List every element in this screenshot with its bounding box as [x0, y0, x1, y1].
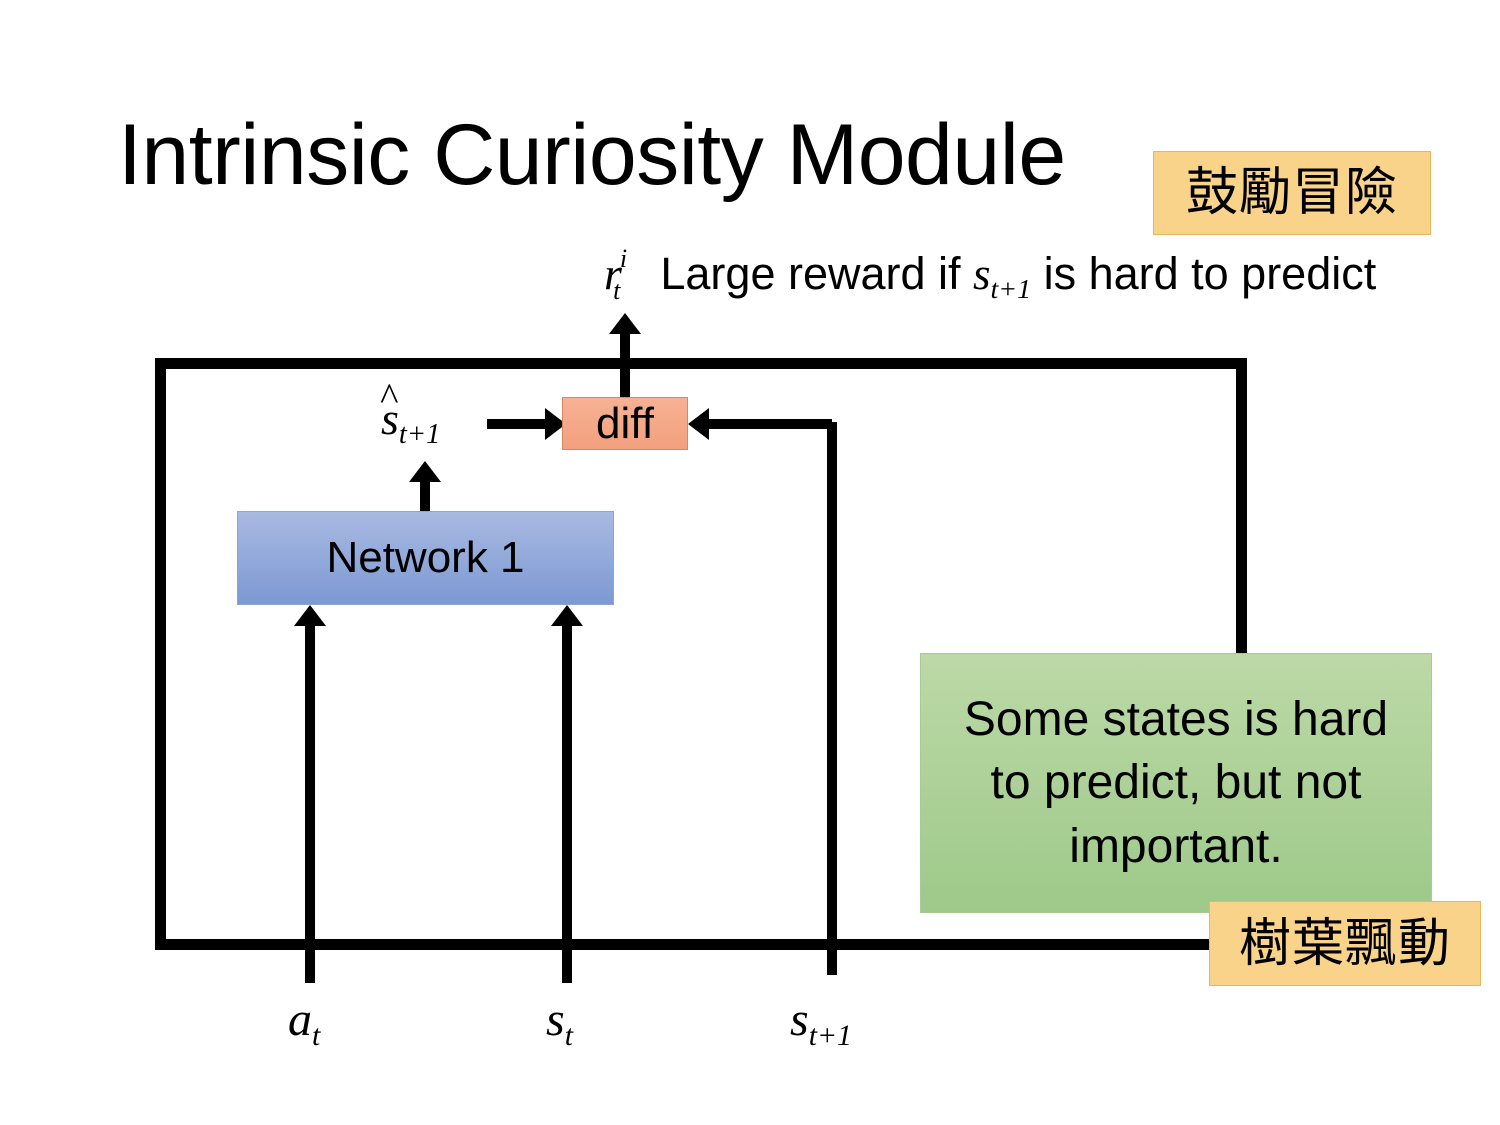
next-state-label-base: s — [790, 993, 809, 1046]
reward-symbol-subscript: t — [613, 276, 620, 305]
predicted-state-label: ^st+1 — [381, 396, 440, 442]
reward-output-arrow — [620, 332, 630, 400]
state-input-arrow — [562, 624, 572, 940]
network-1-block[interactable]: Network 1 — [237, 511, 614, 605]
diff-block[interactable]: diff — [562, 397, 688, 450]
note-block: Some states is hard to predict, but not … — [920, 653, 1432, 913]
next-state-label: st+1 — [790, 996, 852, 1044]
reward-caption-math-sub: t+1 — [991, 274, 1032, 305]
frame-left-rail — [155, 358, 166, 950]
action-feed-line — [305, 939, 315, 983]
badge-encourage-adventure-label: 鼓勵冒險 — [1186, 167, 1398, 219]
predicted-state-sub: t+1 — [399, 419, 440, 450]
next-state-label-sub: t+1 — [809, 1019, 852, 1052]
reward-caption-row: rit Large reward if st+1 is hard to pred… — [604, 247, 1376, 311]
reward-symbol-superscript: i — [620, 244, 627, 273]
page-title: Intrinsic Curiosity Module — [118, 112, 1066, 198]
diff-block-label: diff — [596, 402, 654, 446]
reward-symbol: rit — [604, 247, 636, 300]
note-block-text: Some states is hard to predict, but not … — [949, 688, 1403, 878]
reward-caption-after: is hard to predict — [1031, 248, 1376, 299]
network-1-label: Network 1 — [326, 536, 524, 580]
predicted-state-to-diff-arrow — [487, 419, 547, 429]
action-input-arrow — [305, 624, 315, 940]
frame-top-rail — [155, 358, 1247, 369]
reward-caption-text: Large reward if st+1 is hard to predict — [660, 248, 1376, 300]
network-output-arrow — [420, 480, 430, 515]
state-label-sub: t — [565, 1019, 573, 1052]
state-label: st — [546, 996, 573, 1044]
badge-leaves-fluttering-label: 樹葉飄動 — [1239, 918, 1451, 970]
reward-caption-before: Large reward if — [660, 248, 973, 299]
reward-caption-math-base: s — [973, 249, 991, 299]
hat-accent-icon: ^ — [380, 378, 398, 417]
badge-leaves-fluttering: 樹葉飄動 — [1209, 901, 1481, 986]
frame-bottom-rail — [155, 939, 1247, 950]
next-state-to-diff-arrow — [707, 419, 832, 429]
badge-encourage-adventure: 鼓勵冒險 — [1153, 151, 1431, 235]
next-state-feed-line — [827, 422, 837, 975]
state-label-base: s — [546, 993, 565, 1046]
state-feed-line — [562, 939, 572, 983]
slide-canvas: Intrinsic Curiosity Module 鼓勵冒險 rit Larg… — [0, 0, 1500, 1125]
action-label-sub: t — [312, 1019, 320, 1052]
action-label-base: a — [288, 993, 312, 1046]
action-label: at — [288, 996, 320, 1044]
